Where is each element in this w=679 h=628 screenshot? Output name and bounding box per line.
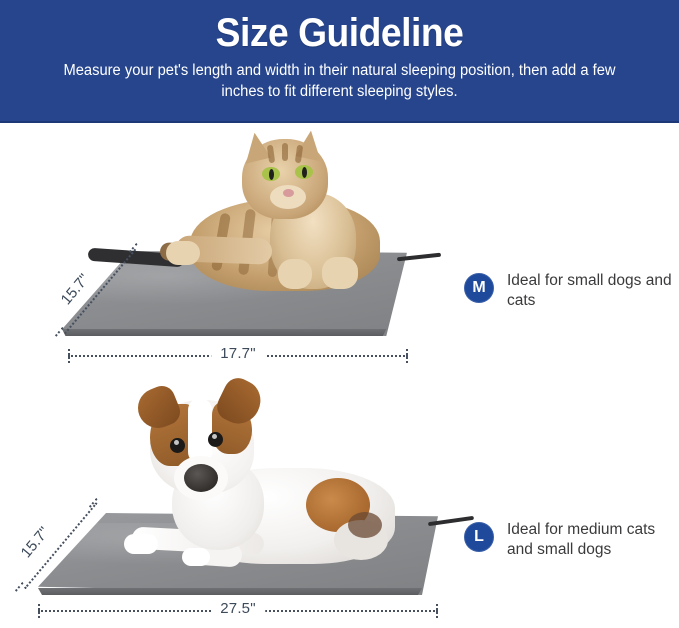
size-row-medium: 15.7" 17.7" M Ideal for small dogs and c… xyxy=(0,123,679,378)
dog-photo xyxy=(120,392,410,572)
size-badge-block-large: L Ideal for medium cats and small dogs xyxy=(464,520,679,560)
width-label-medium: 17.7" xyxy=(211,345,265,362)
page-title: Size Guideline xyxy=(24,9,655,57)
dimension-cap-left xyxy=(68,349,70,363)
size-guideline-infographic: Size Guideline Measure your pet's length… xyxy=(0,0,679,628)
width-label-large: 27.5" xyxy=(211,600,265,617)
dimension-cap-right xyxy=(406,349,408,363)
size-row-large: 15.7" 27.5" L Ideal for medium cats and … xyxy=(0,378,679,628)
header-banner: Size Guideline Measure your pet's length… xyxy=(0,0,679,123)
dimension-cap-left xyxy=(38,604,40,618)
dimension-depth-large: 15.7" xyxy=(14,494,134,604)
dimension-depth-medium: 15.7" xyxy=(56,245,176,345)
dimension-width-large: 27.5" xyxy=(38,604,438,618)
size-caption-large: Ideal for medium cats and small dogs xyxy=(507,520,679,560)
size-caption-medium: Ideal for small dogs and cats xyxy=(507,271,679,311)
cat-photo xyxy=(150,141,410,291)
size-badge-m: M xyxy=(464,273,494,303)
depth-label-medium: 15.7" xyxy=(58,271,93,308)
depth-label-large: 15.7" xyxy=(18,524,53,561)
dimension-cap-right xyxy=(436,604,438,618)
size-badge-block-medium: M Ideal for small dogs and cats xyxy=(464,271,679,311)
header-subtitle: Measure your pet's length and width in t… xyxy=(17,60,662,102)
dimension-width-medium: 17.7" xyxy=(68,349,408,363)
size-badge-l: L xyxy=(464,522,494,552)
